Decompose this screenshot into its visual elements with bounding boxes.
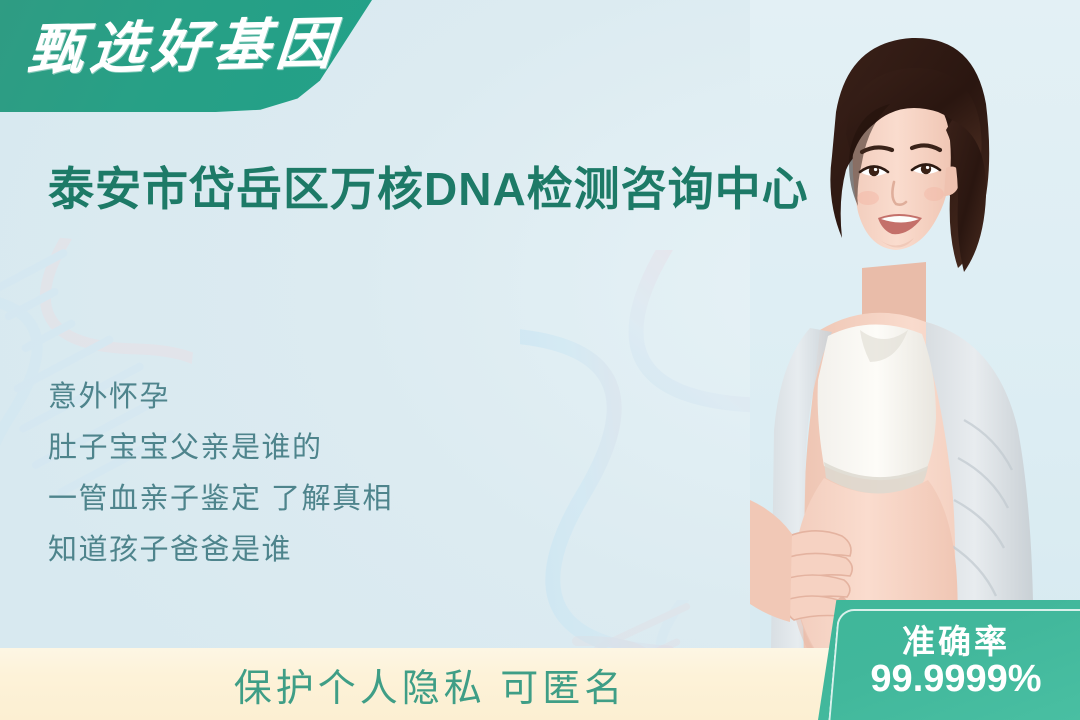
promo-copy-line: 知道孩子爸爸是谁 [48,525,688,576]
promo-copy-line: 意外怀孕 [48,372,688,423]
accuracy-badge-value: 99.9999% [870,659,1041,701]
brand-logo-tab: 甄选好基因 [0,0,372,112]
accuracy-badge-content: 准确率 99.9999% [818,600,1080,720]
promo-banner: 甄选好基因 泰安市岱岳区万核DNA检测咨询中心 意外怀孕 肚子宝宝父亲是谁的 一… [0,0,1080,720]
accuracy-badge: 准确率 99.9999% [818,600,1080,720]
brand-logo-text: 甄选好基因 [25,15,341,82]
accuracy-badge-label: 准确率 [902,625,1010,660]
promo-copy-list: 意外怀孕 肚子宝宝父亲是谁的 一管血亲子鉴定 了解真相 知道孩子爸爸是谁 [48,372,688,576]
page-title: 泰安市岱岳区万核DNA检测咨询中心 [48,160,838,220]
promo-copy-line: 肚子宝宝父亲是谁的 [48,423,688,474]
promo-copy-line: 一管血亲子鉴定 了解真相 [48,474,688,525]
privacy-band-text: 保护个人隐私 可匿名 [0,648,860,720]
